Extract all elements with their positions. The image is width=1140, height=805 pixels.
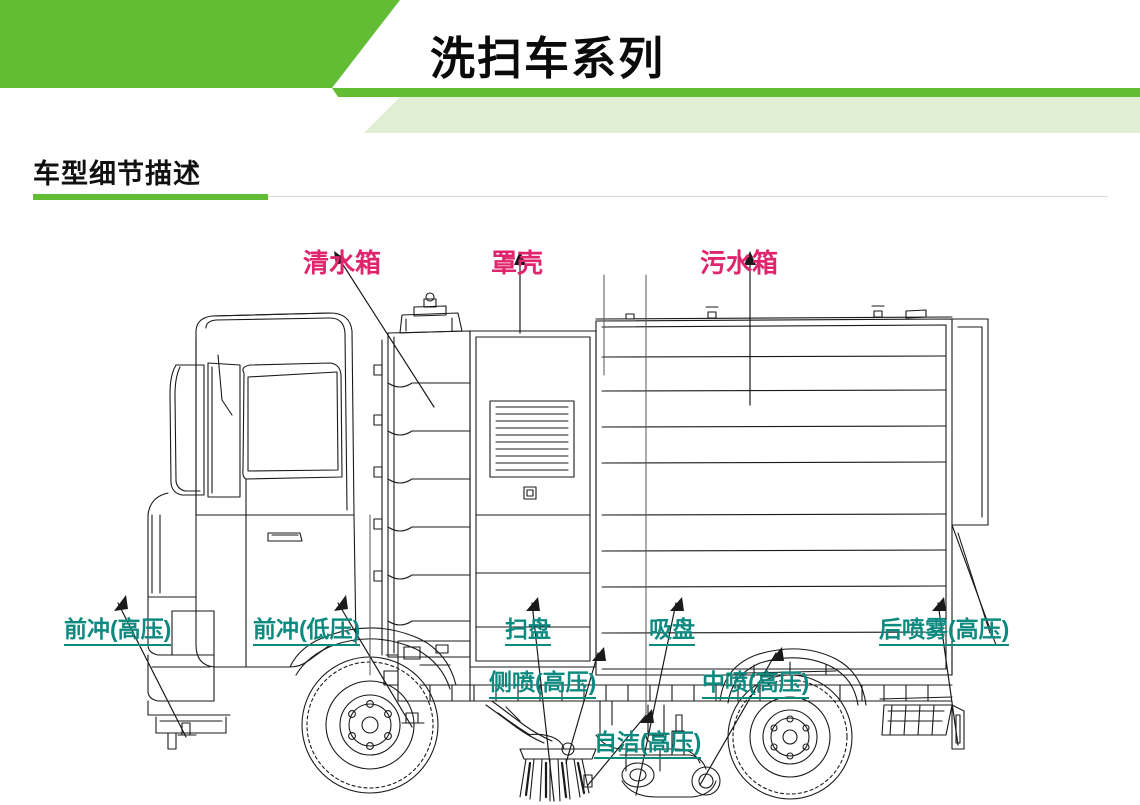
- slide-root: 洗扫车系列 车型细节描述: [0, 0, 1140, 805]
- leader-arrowheads-bottom: [114, 595, 946, 723]
- rear-spray-bar: [880, 697, 964, 749]
- label-side-spray-high[interactable]: 侧喷(高压): [489, 671, 596, 699]
- header-pale-band: [364, 97, 1140, 133]
- label-cover-shell[interactable]: 罩壳: [491, 250, 543, 276]
- truck-diagram: [0, 215, 1140, 805]
- section-heading: 车型细节描述: [33, 152, 201, 191]
- label-mid-spray-high[interactable]: 中喷(高压): [702, 671, 809, 699]
- leader-arrowheads-top: [334, 251, 756, 265]
- label-rear-spray-high[interactable]: 后喷雾(高压): [879, 618, 1009, 646]
- truck-cab: [148, 313, 356, 749]
- page-title: 洗扫车系列: [430, 22, 665, 87]
- label-front-flush-high[interactable]: 前冲(高压): [64, 618, 171, 646]
- label-sweeping-disc[interactable]: 扫盘: [505, 618, 551, 646]
- leader-clean-water-tank: [340, 260, 434, 407]
- label-suction-nozzle[interactable]: 吸盘: [649, 618, 695, 646]
- header-green-rule: [332, 88, 1140, 97]
- vertical-guides: [370, 275, 646, 715]
- section-rule-extension: [268, 196, 1108, 197]
- header-green-shape: [0, 0, 400, 88]
- label-clean-water-tank[interactable]: 清水箱: [303, 250, 381, 276]
- label-front-flush-low[interactable]: 前冲(低压): [253, 618, 360, 646]
- clean-water-tank-body: [374, 293, 470, 657]
- label-sewage-tank[interactable]: 污水箱: [700, 250, 778, 276]
- label-self-clean-high[interactable]: 自洁(高压): [594, 731, 701, 759]
- front-flush-nozzles: [178, 713, 424, 735]
- section-rule-accent: [33, 194, 268, 200]
- section-rule: [33, 194, 1108, 200]
- front-wheel-assembly: [290, 628, 456, 793]
- side-toolbox: [384, 641, 470, 701]
